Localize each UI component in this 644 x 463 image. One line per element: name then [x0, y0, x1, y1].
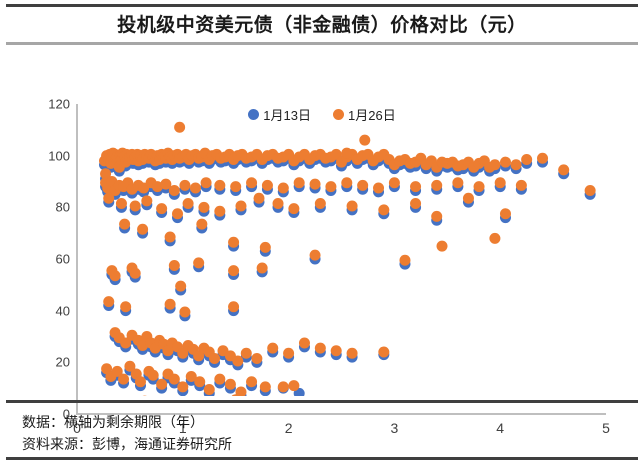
- scatter-point: [169, 374, 180, 385]
- scatter-point: [116, 198, 127, 209]
- scatter-point: [431, 211, 442, 222]
- scatter-point: [246, 177, 257, 188]
- scatter-point: [357, 180, 368, 191]
- scatter-point: [431, 180, 442, 191]
- y-axis-line: [76, 104, 78, 415]
- scatter-point: [489, 159, 500, 170]
- scatter-point: [119, 219, 130, 230]
- title-underline-divider: [6, 42, 638, 45]
- scatter-point: [130, 268, 141, 279]
- scatter-point: [341, 177, 352, 188]
- scatter-point: [103, 296, 114, 307]
- scatter-point: [373, 182, 384, 193]
- footer-note: 数据：横轴为剩余期限（年）: [22, 412, 204, 432]
- scatter-point: [165, 299, 176, 310]
- scatter-point: [410, 181, 421, 192]
- scatter-point: [260, 381, 271, 392]
- scatter-point: [489, 233, 500, 244]
- scatter-point: [190, 182, 201, 193]
- page-title: 投机级中资美元债（非金融债）价格对比（元）: [0, 10, 644, 37]
- scatter-point: [511, 159, 522, 170]
- scatter-point: [196, 219, 207, 230]
- scatter-point: [103, 193, 114, 204]
- y-tick-label: 20: [30, 355, 70, 370]
- scatter-point: [169, 185, 180, 196]
- scatter-point: [585, 185, 596, 196]
- scatter-point: [410, 198, 421, 209]
- scatter-point: [175, 281, 186, 292]
- scatter-point: [262, 180, 273, 191]
- scatter-point: [267, 343, 278, 354]
- scatter-point: [214, 206, 225, 217]
- y-tick-label: 120: [30, 97, 70, 112]
- scatter-point: [198, 202, 209, 213]
- scatter-point: [251, 353, 262, 364]
- scatter-point: [378, 204, 389, 215]
- scatter-point: [359, 135, 370, 146]
- scatter-point: [558, 164, 569, 175]
- scatter-point: [452, 177, 463, 188]
- y-tick-label: 40: [30, 303, 70, 318]
- scatter-point: [310, 179, 321, 190]
- scatter-point: [141, 195, 152, 206]
- scatter-point: [194, 376, 205, 387]
- scatter-point: [347, 201, 358, 212]
- scatter-point: [283, 348, 294, 359]
- top-divider: [6, 4, 638, 7]
- scatter-point: [169, 260, 180, 271]
- scatter-point: [232, 356, 243, 367]
- scatter-point: [183, 198, 194, 209]
- bottom-divider: [6, 457, 638, 460]
- scatter-point: [278, 182, 289, 193]
- scatter-point: [130, 201, 141, 212]
- y-axis-tick-labels: 0 20 40 60 80 100 120: [26, 46, 70, 396]
- scatter-point: [110, 270, 121, 281]
- scatter-point: [177, 381, 188, 392]
- scatter-point: [437, 241, 448, 252]
- scatter-point: [495, 177, 506, 188]
- scatter-point: [137, 224, 148, 235]
- scatter-point: [347, 348, 358, 359]
- scatter-point: [521, 154, 532, 165]
- y-tick-label: 60: [30, 252, 70, 267]
- scatter-point: [260, 242, 271, 253]
- scatter-point: [378, 347, 389, 358]
- plot-area: 0 20 40 60 80 100 120 0 1 2 3 4 5 1月13日 …: [0, 46, 644, 396]
- scatter-point: [235, 201, 246, 212]
- scatter-point: [172, 208, 183, 219]
- scatter-point: [120, 301, 131, 312]
- scatter-point: [156, 379, 167, 390]
- scatter-point: [214, 180, 225, 191]
- footer-source: 资料来源：彭博，海通证券研究所: [22, 434, 232, 454]
- scatter-point: [273, 198, 284, 209]
- scatter-point: [537, 153, 548, 164]
- scatter-point: [148, 370, 159, 381]
- scatter-point: [118, 374, 129, 385]
- scatter-point: [228, 265, 239, 276]
- scatter-point: [209, 353, 220, 364]
- scatter-point: [325, 181, 336, 192]
- scatter-point: [228, 301, 239, 312]
- scatter-point: [174, 122, 185, 133]
- scatter-point: [294, 177, 305, 188]
- scatter-point: [288, 380, 299, 391]
- scatter-point: [288, 203, 299, 214]
- scatter-point: [225, 379, 236, 390]
- scatter-point: [246, 376, 257, 387]
- scatter-point: [135, 376, 146, 387]
- scatter-point: [179, 180, 190, 191]
- scatter-point: [516, 180, 527, 191]
- scatter-point: [331, 345, 342, 356]
- chart-page: 投机级中资美元债（非金融债）价格对比（元） 0 20 40 60 80 100 …: [0, 0, 644, 463]
- scatter-point: [193, 257, 204, 268]
- scatter-point: [179, 306, 190, 317]
- scatter-point: [310, 250, 321, 261]
- chart-footer: 数据：横轴为剩余期限（年） 资料来源：彭博，海通证券研究所: [0, 403, 644, 457]
- scatter-point: [500, 208, 511, 219]
- scatter-point: [204, 384, 215, 395]
- scatter-point: [230, 181, 241, 192]
- scatter-point: [165, 232, 176, 243]
- scatter-point: [278, 381, 289, 392]
- scatter-point: [341, 148, 352, 159]
- scatter-point: [156, 203, 167, 214]
- scatter-plot: [0, 46, 644, 396]
- scatter-point: [299, 337, 310, 348]
- scatter-point: [315, 198, 326, 209]
- scatter-point: [214, 374, 225, 385]
- scatter-point: [315, 343, 326, 354]
- scatter-point: [389, 177, 400, 188]
- scatter-point: [474, 181, 485, 192]
- scatter-point: [253, 193, 264, 204]
- scatter-point: [463, 193, 474, 204]
- scatter-point: [201, 177, 212, 188]
- y-tick-label: 100: [30, 148, 70, 163]
- scatter-point: [241, 348, 252, 359]
- scatter-point: [228, 237, 239, 248]
- scatter-point: [500, 157, 511, 168]
- scatter-point: [399, 255, 410, 266]
- scatter-point: [257, 263, 268, 274]
- y-tick-label: 80: [30, 200, 70, 215]
